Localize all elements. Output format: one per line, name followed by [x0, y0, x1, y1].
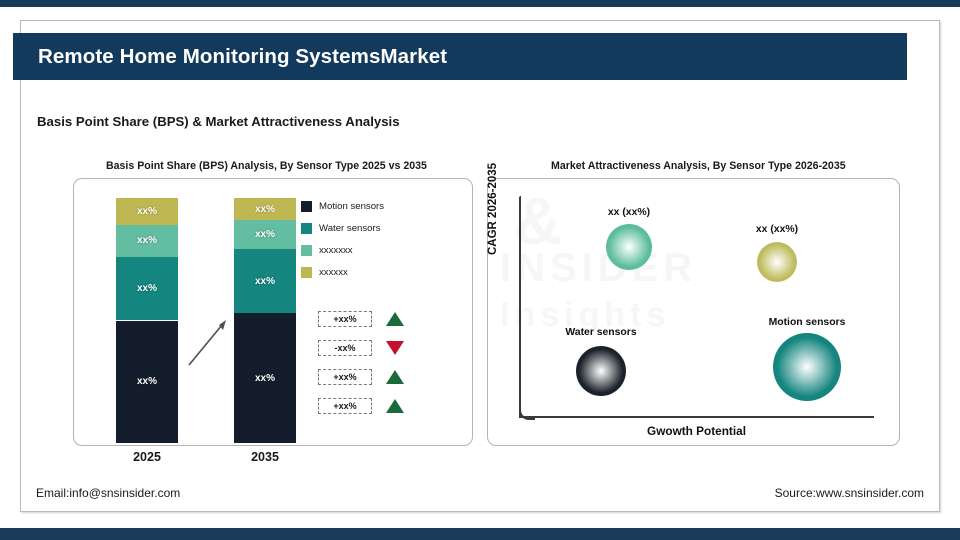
- bar-segment: xx%: [234, 313, 296, 443]
- x-tick-2025: 2025: [116, 450, 178, 464]
- x-tick-2035: 2035: [234, 450, 296, 464]
- delta-row: +xx%: [318, 311, 404, 327]
- bubble-label: Water sensors: [521, 327, 681, 338]
- legend-item[interactable]: Motion sensors: [301, 200, 384, 213]
- bubble-label: xx (xx%): [549, 207, 709, 218]
- delta-value-box: -xx%: [318, 340, 372, 356]
- arrow-up-icon: [386, 312, 404, 326]
- legend-item[interactable]: Water sensors: [301, 222, 384, 235]
- footer-email: Email:info@snsinsider.com: [36, 486, 180, 500]
- legend-label: Motion sensors: [319, 201, 384, 212]
- delta-value-box: +xx%: [318, 311, 372, 327]
- legend-label: Water sensors: [319, 223, 381, 234]
- arrow-up-icon: [386, 370, 404, 384]
- legend-label: xxxxxxx: [319, 245, 353, 256]
- bps-delta-indicators: +xx%-xx%+xx%+xx%: [318, 311, 404, 427]
- bottom-accent-bar: [0, 528, 960, 540]
- bar-segment: xx%: [234, 249, 296, 313]
- bar-segment: xx%: [116, 225, 178, 257]
- page-title: Remote Home Monitoring SystemsMarket: [13, 45, 447, 69]
- stacked-bar-2025: xx%xx%xx%xx%: [116, 198, 178, 443]
- arrow-up-icon: [386, 399, 404, 413]
- growth-trend-arrow: [186, 316, 230, 368]
- bubble[interactable]: [757, 242, 797, 282]
- delta-value-box: +xx%: [318, 398, 372, 414]
- bubble[interactable]: [606, 224, 652, 270]
- attractiveness-chart-panel: [487, 178, 900, 446]
- bubble-label: Motion sensors: [727, 317, 887, 328]
- legend-swatch-icon: [301, 267, 312, 278]
- y-axis-label: CAGR 2026-2035: [487, 163, 499, 255]
- stacked-bar-2035: xx%xx%xx%xx%: [234, 198, 296, 443]
- delta-row: -xx%: [318, 340, 404, 356]
- legend-item[interactable]: xxxxxx: [301, 266, 384, 279]
- bps-chart-title: Basis Point Share (BPS) Analysis, By Sen…: [106, 160, 427, 172]
- legend-swatch-icon: [301, 245, 312, 256]
- legend-item[interactable]: xxxxxxx: [301, 244, 384, 257]
- bubble[interactable]: [576, 346, 626, 396]
- title-band: Remote Home Monitoring SystemsMarket: [13, 33, 907, 80]
- x-axis-label: Gwowth Potential: [519, 424, 874, 438]
- legend-swatch-icon: [301, 201, 312, 212]
- slide-page: Remote Home Monitoring SystemsMarket Bas…: [0, 0, 960, 540]
- delta-row: +xx%: [318, 398, 404, 414]
- arrow-down-icon: [386, 341, 404, 355]
- attractiveness-chart-title: Market Attractiveness Analysis, By Senso…: [551, 160, 846, 172]
- bubble-label: xx (xx%): [697, 224, 857, 235]
- bar-segment: xx%: [234, 220, 296, 249]
- section-title: Basis Point Share (BPS) & Market Attract…: [37, 114, 400, 129]
- bar-segment: xx%: [116, 321, 178, 444]
- footer-source: Source:www.snsinsider.com: [775, 486, 924, 500]
- x-axis-line: [519, 416, 874, 418]
- y-axis-line: [519, 196, 521, 418]
- legend-label: xxxxxx: [319, 267, 348, 278]
- delta-value-box: +xx%: [318, 369, 372, 385]
- bar-segment: xx%: [116, 257, 178, 321]
- bps-legend: Motion sensorsWater sensorsxxxxxxxxxxxxx: [301, 200, 384, 288]
- bar-segment: xx%: [234, 198, 296, 220]
- top-accent-bar: [0, 0, 960, 7]
- bar-segment: xx%: [116, 198, 178, 225]
- delta-row: +xx%: [318, 369, 404, 385]
- bubble[interactable]: [773, 333, 841, 401]
- legend-swatch-icon: [301, 223, 312, 234]
